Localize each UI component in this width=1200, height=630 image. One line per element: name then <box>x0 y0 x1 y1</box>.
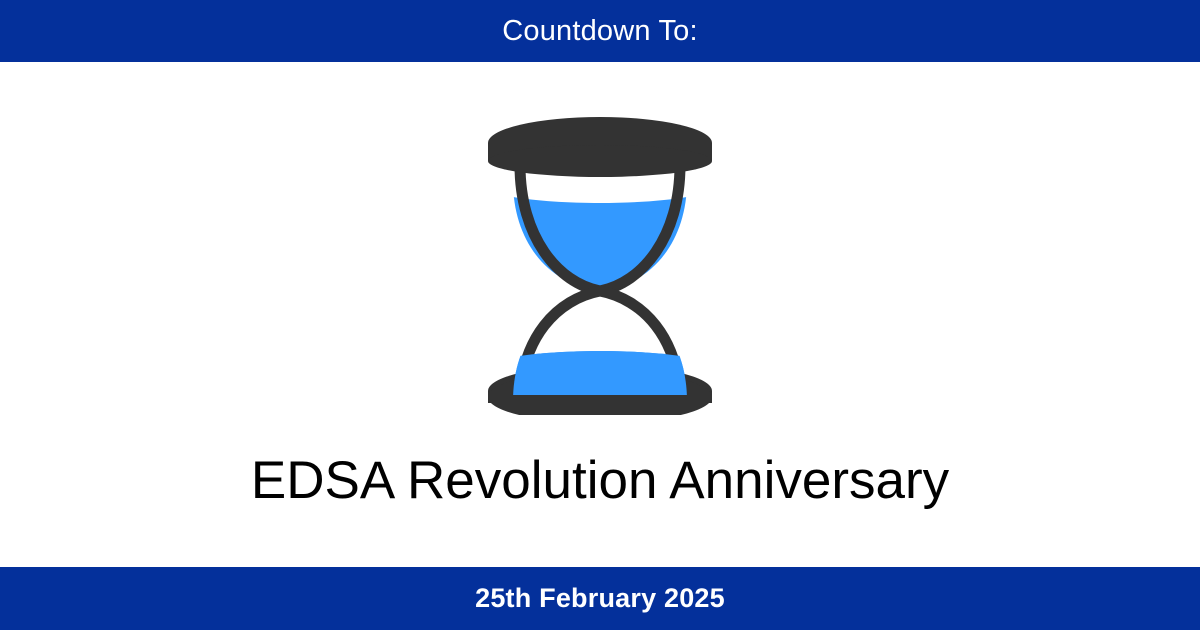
hourglass-graphic <box>480 105 720 415</box>
hourglass-cap <box>488 117 712 177</box>
event-date: 25th February 2025 <box>475 585 725 612</box>
poster-body: EDSA Revolution Anniversary <box>0 62 1200 567</box>
event-title: EDSA Revolution Anniversary <box>251 453 949 509</box>
top-banner: Countdown To: <box>0 0 1200 62</box>
countdown-label: Countdown To: <box>502 17 698 46</box>
countdown-poster: Countdown To: <box>0 0 1200 630</box>
lower-bulb-sand-top <box>513 351 687 395</box>
hourglass-icon <box>480 105 720 415</box>
bottom-banner: 25th February 2025 <box>0 567 1200 630</box>
